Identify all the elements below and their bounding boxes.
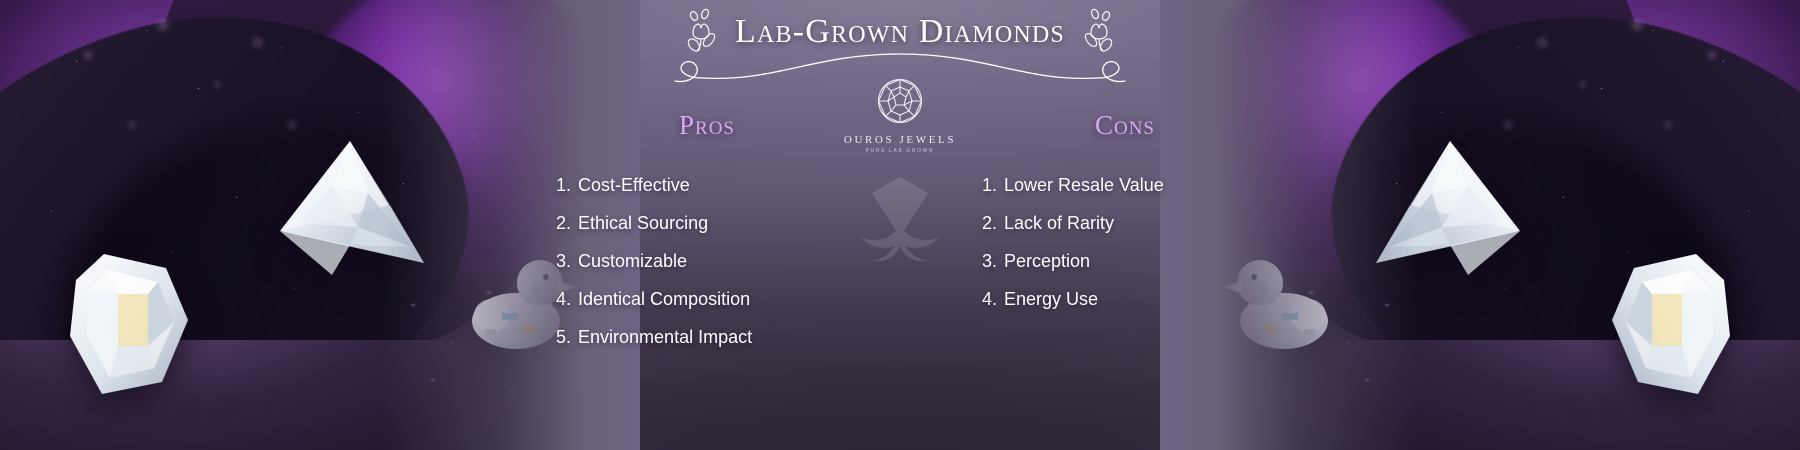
list-item-number: 4. [556, 289, 571, 310]
pros-heading: Pros [542, 110, 872, 141]
right-emerald-cut-diamond [1598, 250, 1738, 400]
list-item: 1. Cost-Effective [556, 175, 872, 196]
list-item-number: 4. [982, 289, 997, 310]
center-content: Lab-Grown Diamonds [520, 0, 1280, 450]
cons-heading: Cons [978, 110, 1272, 141]
list-item-label: Lack of Rarity [1004, 213, 1114, 234]
page-title: Lab-Grown Diamonds [735, 13, 1065, 51]
list-item: 1. Lower Resale Value [982, 175, 1272, 196]
pros-cons-columns: Pros 1. Cost-Effective 2. Ethical Sourci… [520, 110, 1280, 364]
cons-list: 1. Lower Resale Value 2. Lack of Rarity … [942, 175, 1272, 310]
list-item: 4. Energy Use [982, 289, 1272, 310]
list-item: 4. Identical Composition [556, 289, 872, 310]
list-item-label: Ethical Sourcing [578, 213, 708, 234]
list-item: 5. Environmental Impact [556, 327, 872, 348]
left-emerald-cut-diamond [62, 250, 202, 400]
list-item-label: Customizable [578, 251, 687, 272]
list-item-number: 5. [556, 327, 571, 348]
list-item-number: 1. [556, 175, 571, 196]
left-trillion-cut-diamond [272, 135, 432, 295]
list-item-number: 2. [556, 213, 571, 234]
list-item: 3. Perception [982, 251, 1272, 272]
list-item-label: Identical Composition [578, 289, 750, 310]
lab-grown-diamonds-banner: Lab-Grown Diamonds [0, 0, 1800, 450]
pros-list: 1. Cost-Effective 2. Ethical Sourcing 3.… [542, 175, 872, 347]
list-item-number: 2. [982, 213, 997, 234]
pros-column: Pros 1. Cost-Effective 2. Ethical Sourci… [528, 110, 872, 364]
list-item: 3. Customizable [556, 251, 872, 272]
list-item-label: Environmental Impact [578, 327, 752, 348]
list-item-label: Lower Resale Value [1004, 175, 1164, 196]
list-item-number: 1. [982, 175, 997, 196]
right-trillion-cut-diamond [1368, 135, 1528, 295]
list-item-number: 3. [982, 251, 997, 272]
list-item-number: 3. [556, 251, 571, 272]
list-item: 2. Lack of Rarity [982, 213, 1272, 234]
list-item-label: Perception [1004, 251, 1090, 272]
list-item: 2. Ethical Sourcing [556, 213, 872, 234]
list-item-label: Cost-Effective [578, 175, 690, 196]
list-item-label: Energy Use [1004, 289, 1098, 310]
cons-column: Cons 1. Lower Resale Value 2. Lack of Ra… [938, 110, 1272, 364]
